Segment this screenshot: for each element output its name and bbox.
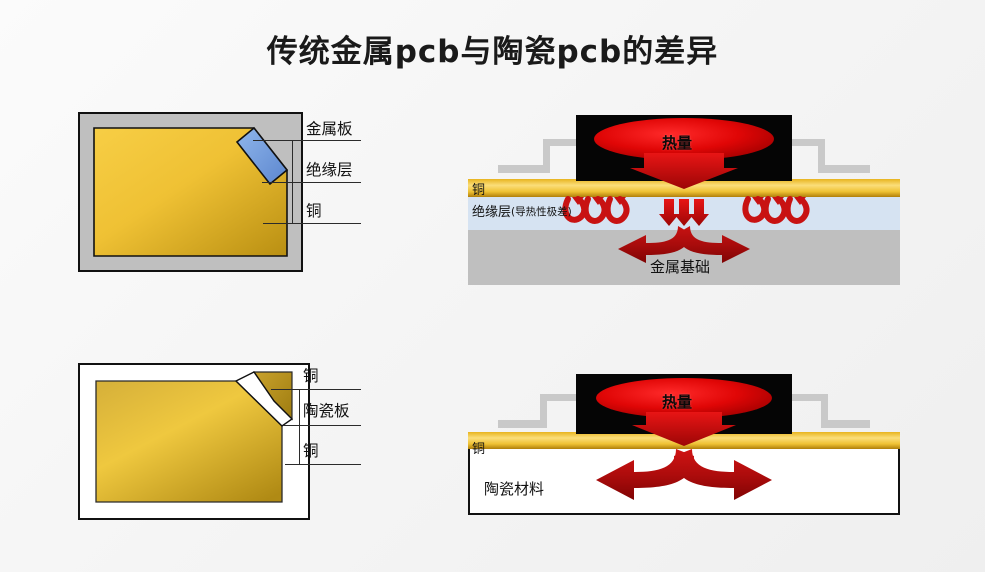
label-copper: 铜 <box>306 199 322 221</box>
ceramic-material-label: 陶瓷材料 <box>484 478 544 499</box>
metal-pcb-board <box>78 112 303 272</box>
label-ceramic-plate: 陶瓷板 <box>303 399 350 421</box>
label-copper-bottom: 铜 <box>303 439 319 461</box>
diagram-canvas: 传统金属pcb与陶瓷pcb的差异 <box>0 0 985 572</box>
insulation-label-metal: 绝缘层 <box>472 201 511 220</box>
leader-metal-plate <box>253 140 361 141</box>
leader-copper-top <box>271 389 361 390</box>
heat-label-ceramic: 热量 <box>662 391 692 412</box>
ceramic-pcb-board <box>78 363 310 520</box>
label-metal-plate: 金属板 <box>306 117 353 139</box>
leader-connector-top <box>292 140 293 223</box>
label-insulation-layer: 绝缘层 <box>306 158 353 180</box>
page-title: 传统金属pcb与陶瓷pcb的差异 <box>0 26 985 71</box>
copper-label-ceramic: 铜 <box>472 438 485 457</box>
leader-copper-bottom <box>285 464 361 465</box>
leader-copper <box>263 223 361 224</box>
metal-base-label: 金属基础 <box>650 256 710 277</box>
leader-insulation-layer <box>262 182 361 183</box>
leader-ceramic-plate <box>283 425 361 426</box>
copper-label-metal: 铜 <box>472 179 485 198</box>
heat-label-metal: 热量 <box>662 132 692 153</box>
insulation-note-metal: (导热性极差) <box>511 204 572 219</box>
label-copper-top: 铜 <box>303 364 319 386</box>
leader-connector-bottom <box>299 389 300 464</box>
